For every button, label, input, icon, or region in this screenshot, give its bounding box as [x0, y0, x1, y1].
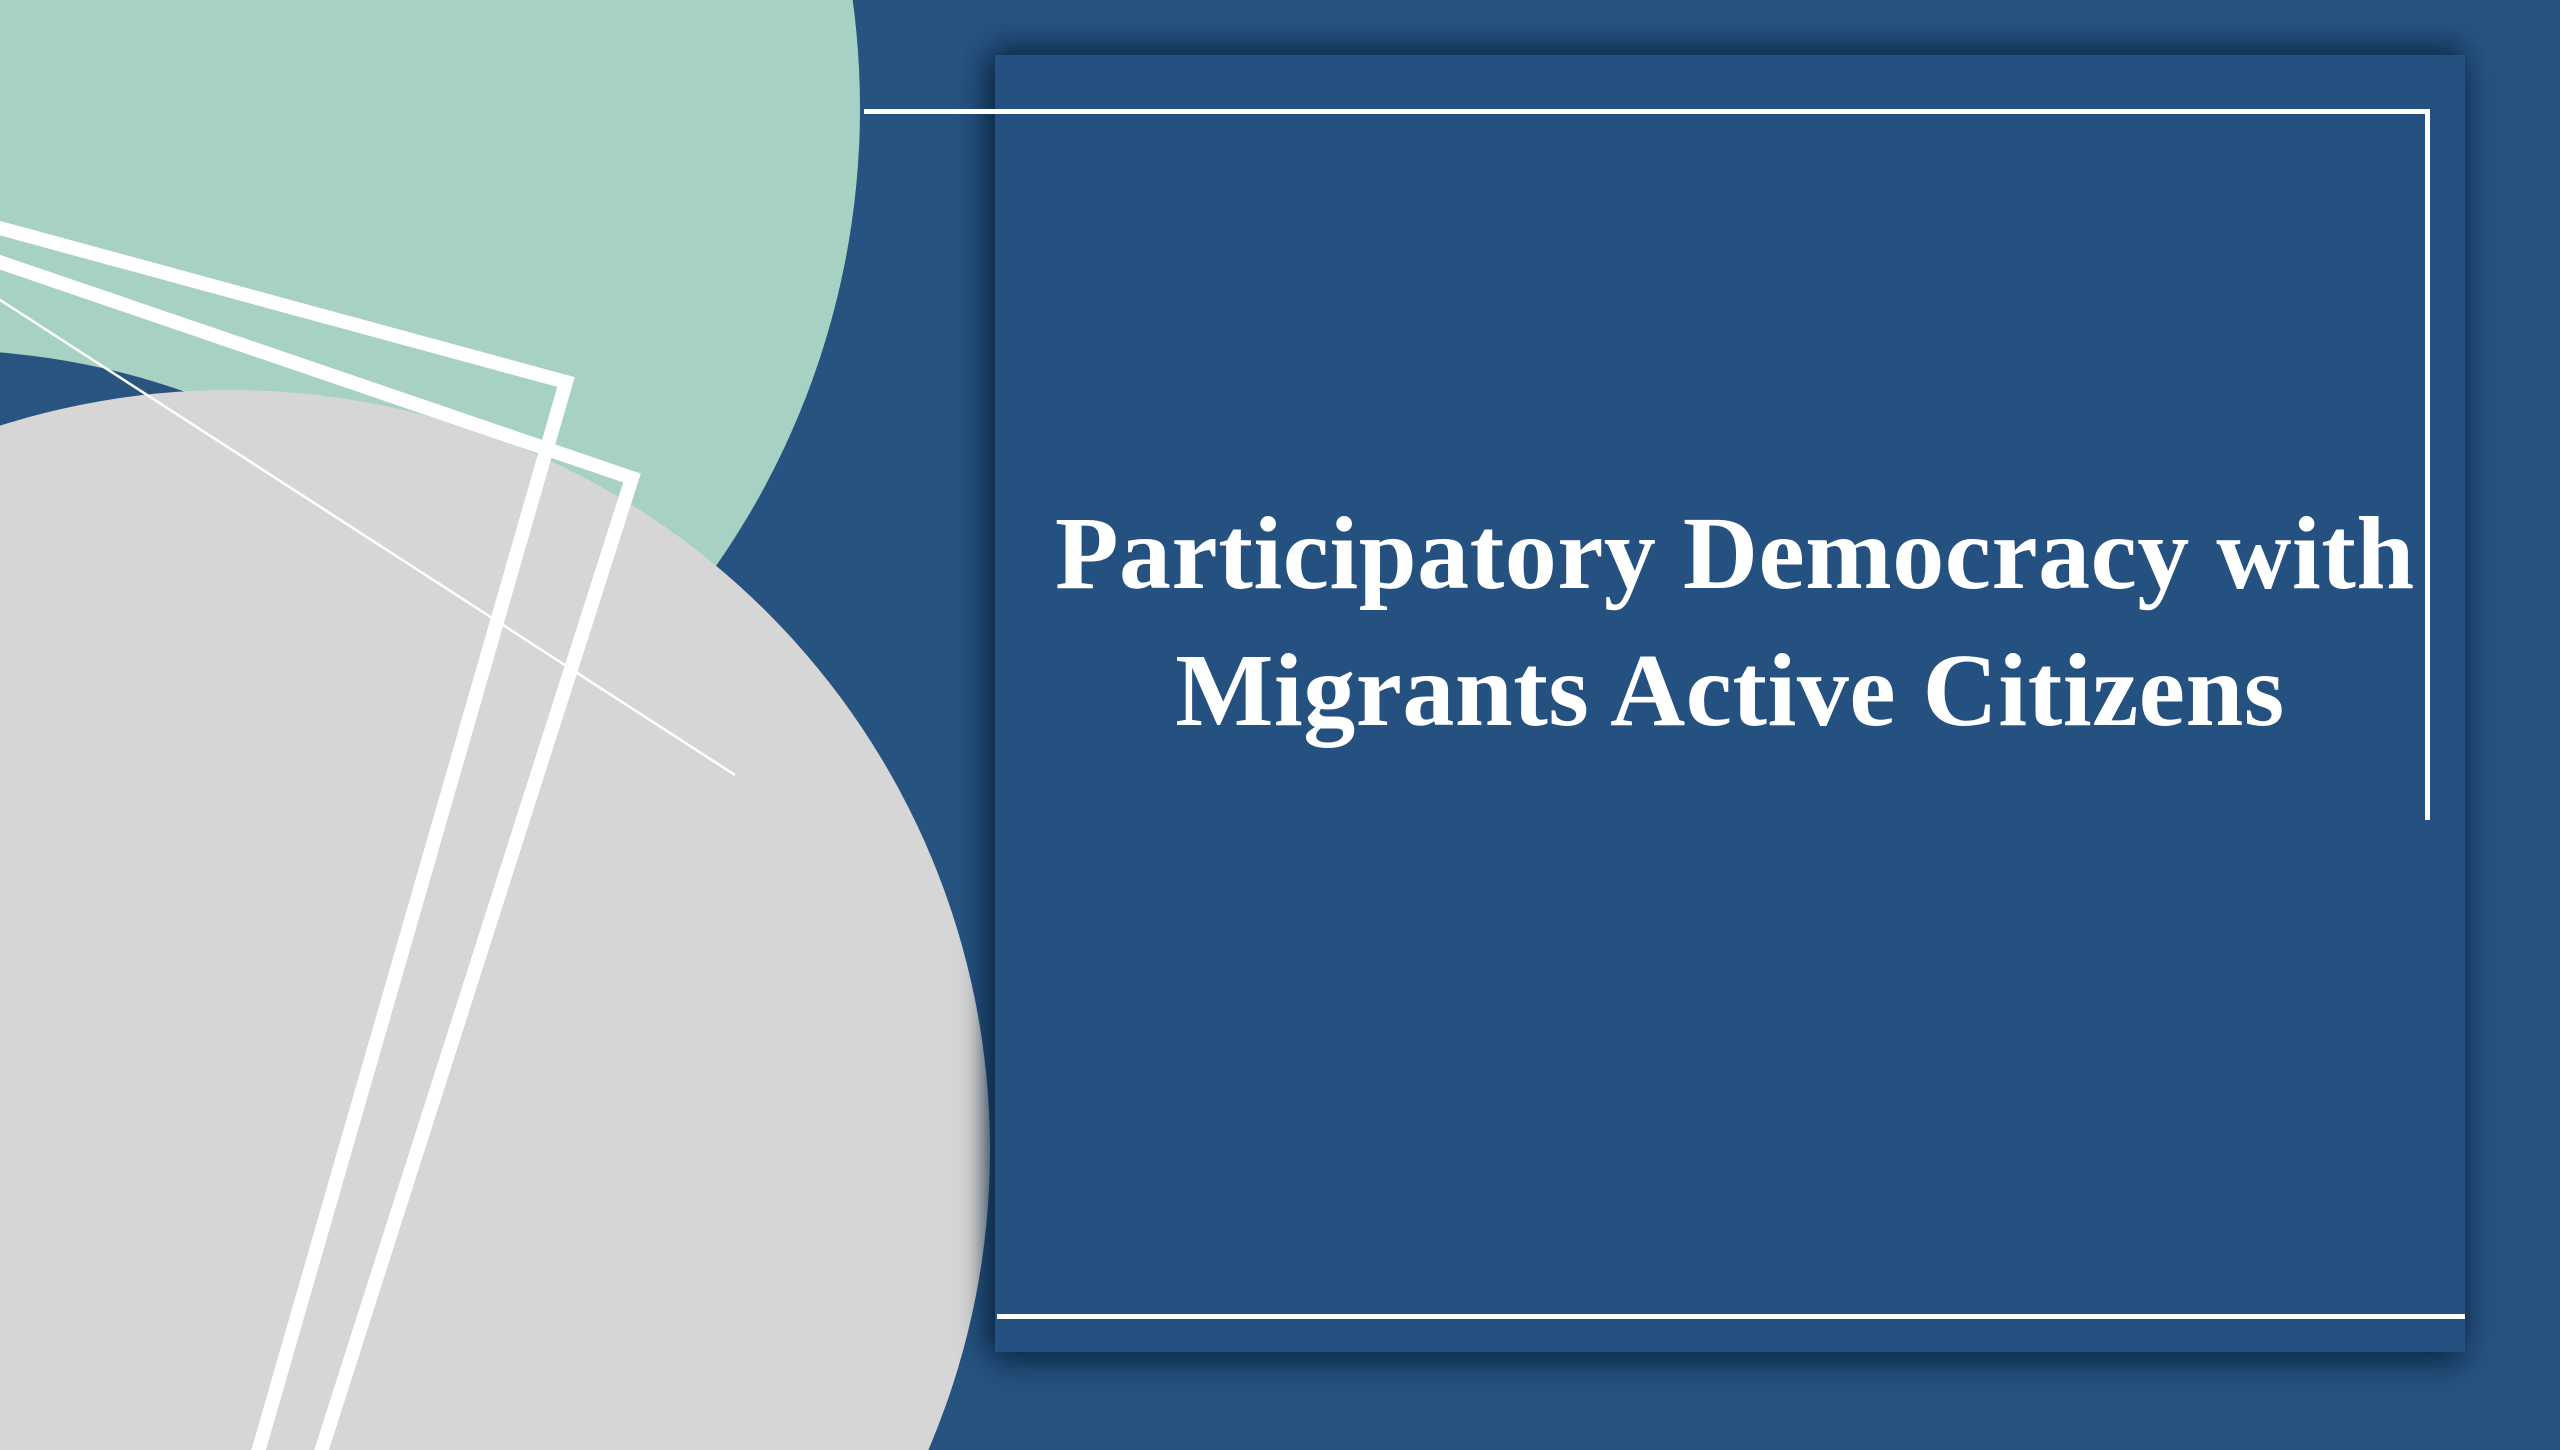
frame-rule-bottom — [997, 1314, 2465, 1319]
title-line-2: Migrants Active Citizens — [1055, 622, 2405, 759]
title-panel: Participatory Democracy with Migrants Ac… — [995, 55, 2465, 1352]
page-title: Participatory Democracy with Migrants Ac… — [995, 485, 2465, 760]
frame-rule-top — [864, 109, 2430, 114]
title-line-1: Participatory Democracy with — [1055, 485, 2405, 622]
title-slide: Participatory Democracy with Migrants Ac… — [0, 0, 2560, 1450]
